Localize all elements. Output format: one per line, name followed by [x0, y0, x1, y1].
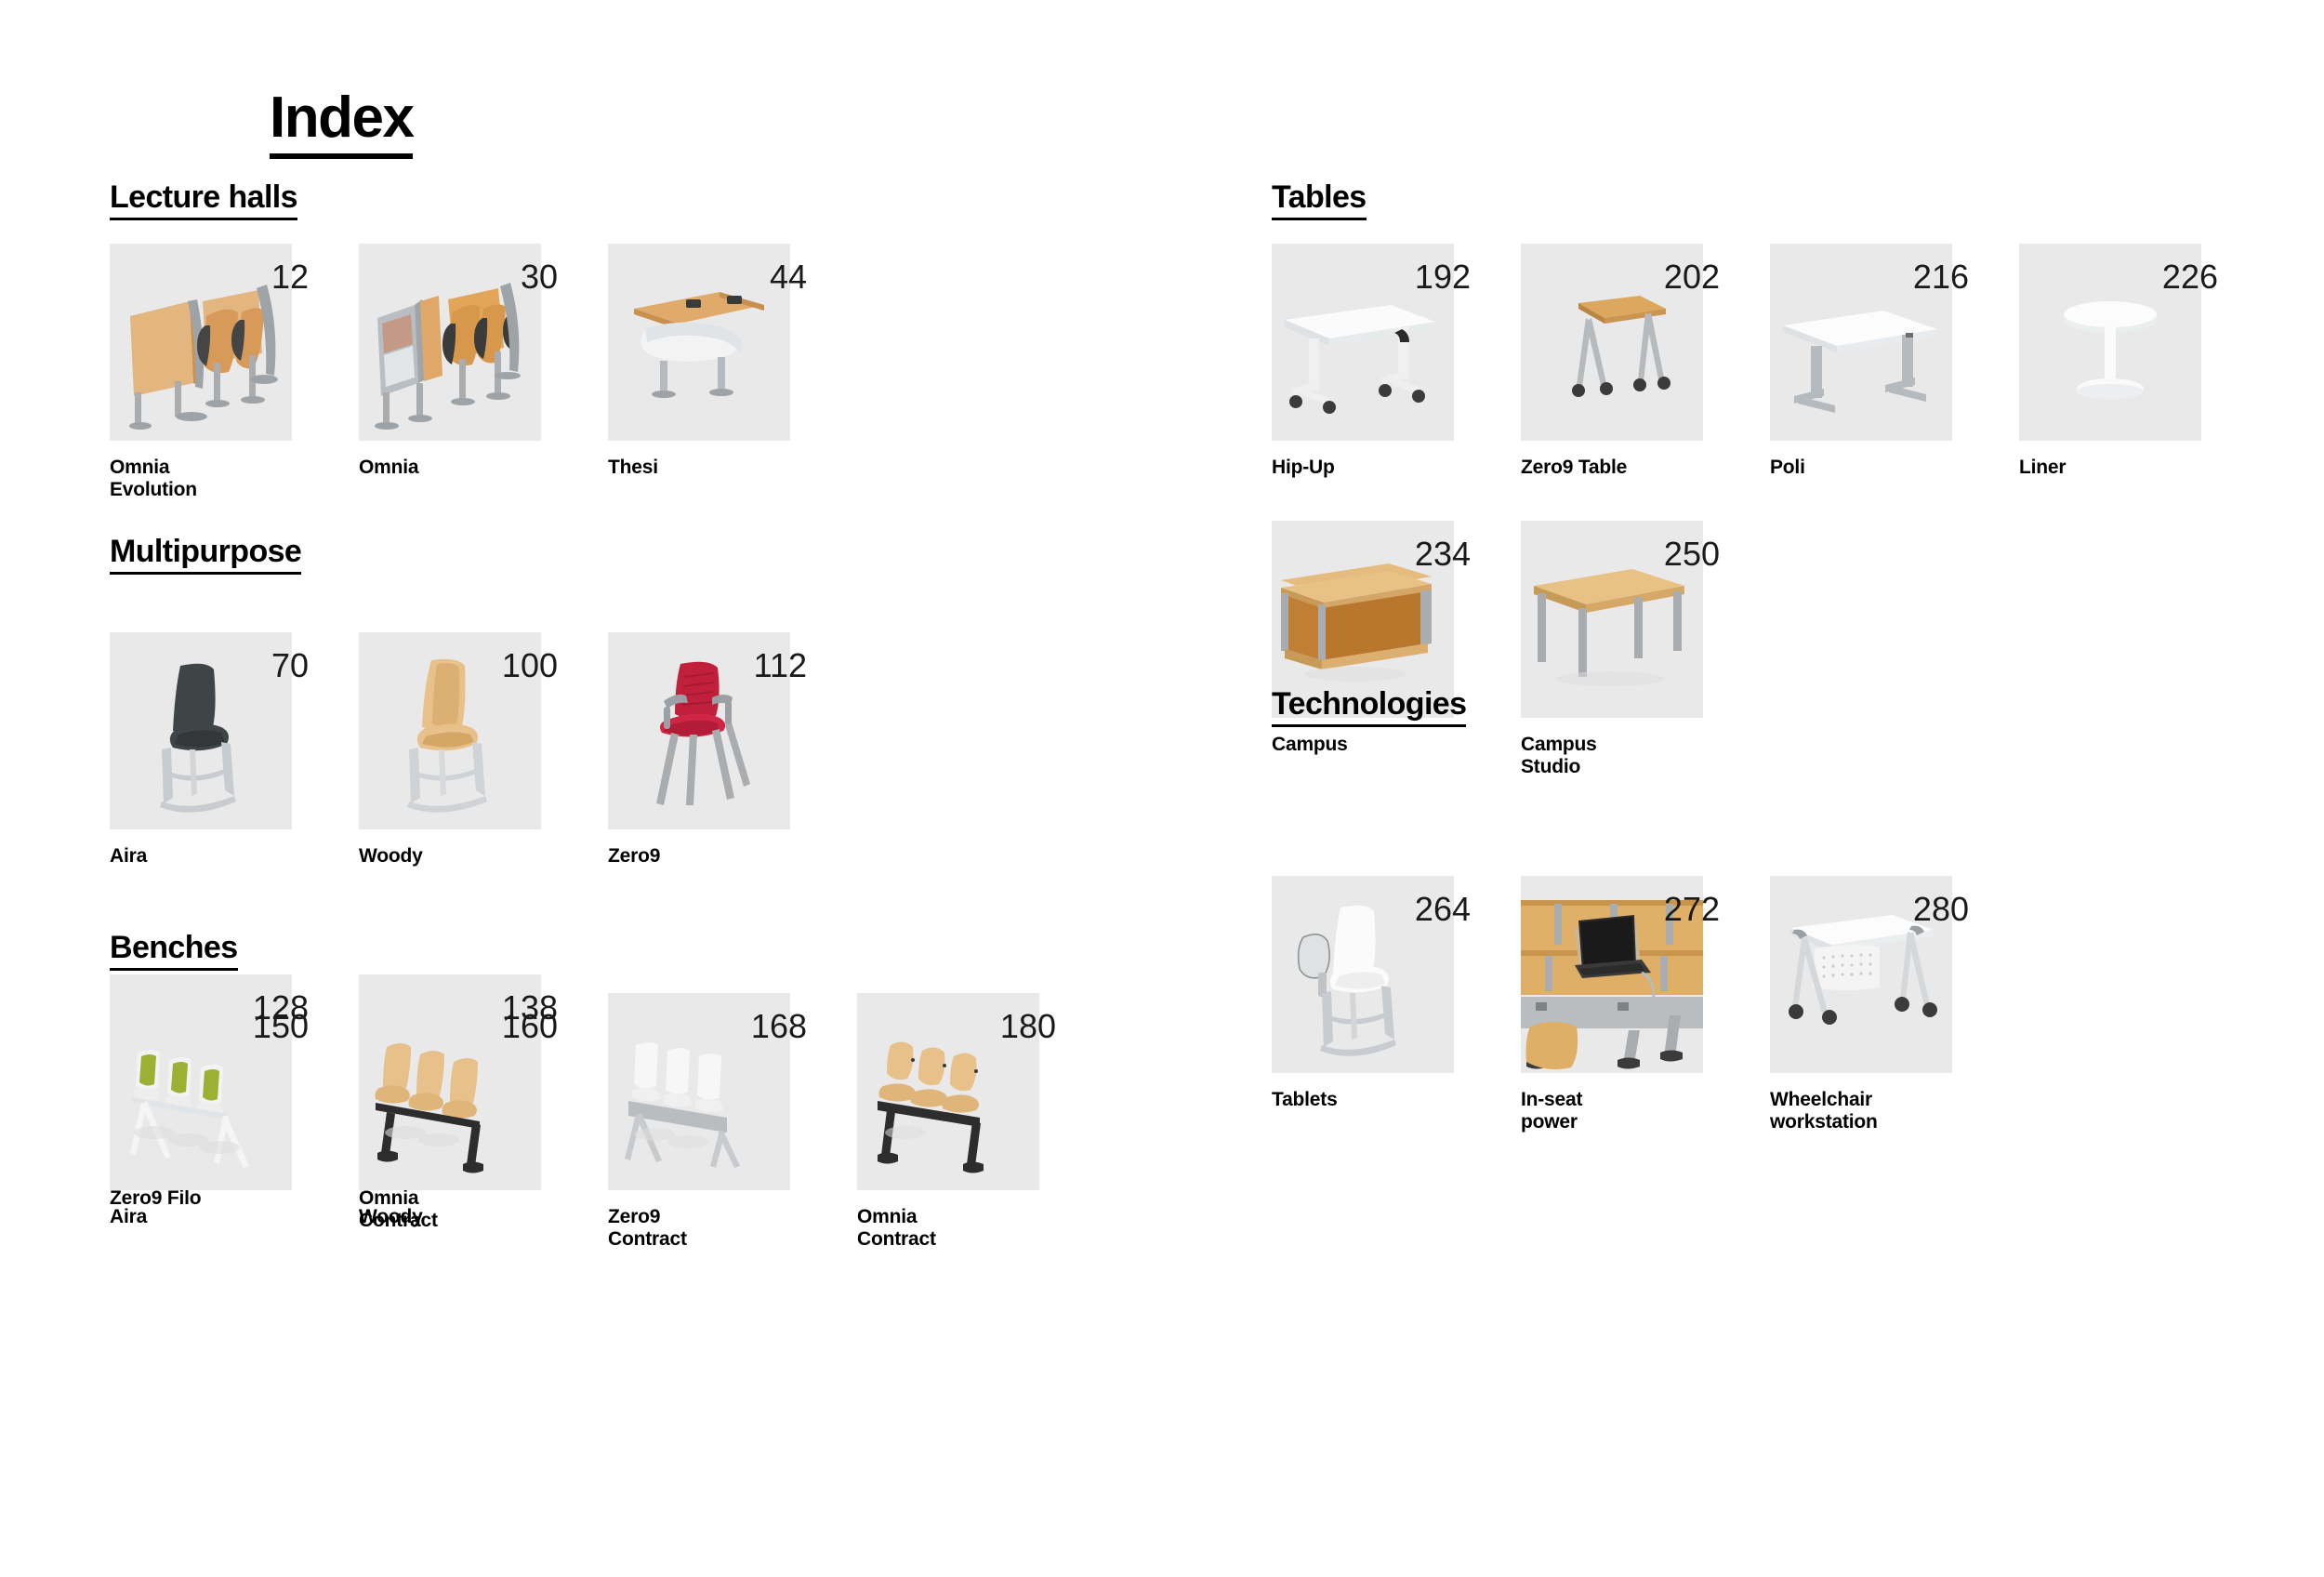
page-number: 216 — [1913, 260, 1969, 294]
product-label: Zero9 Contract — [608, 1206, 790, 1251]
product-tile[interactable]: 272In-seat power — [1521, 876, 1703, 1133]
right-column: Tables 192Hip-Up 202Zero9 Table — [1272, 0, 2324, 1577]
page-number: 234 — [1415, 537, 1471, 571]
product-tile[interactable]: 160Woody — [359, 993, 541, 1251]
product-tile[interactable]: 280Wheelchair workstation — [1770, 876, 1952, 1133]
page-number: 30 — [521, 260, 558, 294]
product-tile[interactable]: 112Zero9 — [608, 632, 790, 868]
product-thumbnail[interactable]: 160 — [359, 993, 541, 1190]
page-number: 12 — [271, 260, 309, 294]
page-number: 168 — [751, 1010, 807, 1043]
page-number: 100 — [502, 649, 558, 682]
left-column: Lecture halls 12Omnia Evolution — [110, 0, 1179, 1577]
section-benches: Benches — [110, 932, 1179, 971]
product-label: Woody — [359, 845, 541, 868]
page-number: 70 — [271, 649, 309, 682]
tile-row: 234Campus 250Campus Studio — [1272, 521, 1703, 778]
product-tile[interactable]: 202Zero9 Table — [1521, 244, 1703, 479]
section-multipurpose: Multipurpose — [110, 536, 1179, 575]
page-number: 150 — [253, 1010, 309, 1043]
product-label: Zero9 — [608, 845, 790, 868]
product-tile[interactable]: 192Hip-Up — [1272, 244, 1454, 479]
section-title-benches: Benches — [110, 932, 238, 971]
product-label: Poli — [1770, 457, 1952, 479]
page-number: 112 — [754, 649, 807, 682]
page-number: 192 — [1415, 260, 1471, 294]
tile-row: 70Aira 100Woody 112Zero9 — [110, 632, 790, 868]
page-number: 264 — [1415, 893, 1471, 926]
tile-row: 12Omnia Evolution 30Omnia — [110, 244, 790, 501]
product-tile[interactable]: 216Poli — [1770, 244, 1952, 479]
page-number: 272 — [1664, 893, 1720, 926]
tile-row: 192Hip-Up 202Zero9 Table 216Poli — [1272, 244, 2201, 479]
product-thumbnail[interactable]: 100 — [359, 632, 541, 829]
tile-row: 150Aira 160Woody 168Zero9 Cont — [110, 993, 1039, 1251]
page-number: 226 — [2162, 260, 2218, 294]
thesi-image — [608, 244, 790, 441]
section-title-technologies: Technologies — [1272, 688, 1466, 727]
product-tile[interactable]: 234Campus — [1272, 521, 1454, 778]
product-tile[interactable]: 180Omnia Contract — [857, 993, 1039, 1251]
product-label: Wheelchair workstation — [1770, 1089, 1952, 1133]
omnia-lecture-image — [359, 244, 541, 441]
page-number: 160 — [502, 1010, 558, 1043]
product-label: Hip-Up — [1272, 457, 1454, 479]
product-thumbnail[interactable]: 30 — [359, 244, 541, 441]
product-label: Aira — [110, 845, 292, 868]
product-tile[interactable]: 150Aira — [110, 993, 292, 1251]
product-thumbnail[interactable]: 202 — [1521, 244, 1703, 441]
product-thumbnail[interactable]: 264 — [1272, 876, 1454, 1073]
product-label: Aira — [110, 1206, 292, 1228]
product-label: Liner — [2019, 457, 2201, 479]
tile-row: 264Tablets 272In-seat power — [1272, 876, 1952, 1133]
product-thumbnail[interactable]: 44 — [608, 244, 790, 441]
product-label: Thesi — [608, 457, 790, 479]
product-label: Tablets — [1272, 1089, 1454, 1111]
omnia-evolution-image — [110, 244, 292, 441]
product-tile[interactable]: 70Aira — [110, 632, 292, 868]
product-tile[interactable]: 226Liner — [2019, 244, 2201, 479]
product-thumbnail[interactable]: 70 — [110, 632, 292, 829]
product-label: Omnia Evolution — [110, 457, 292, 501]
product-thumbnail[interactable]: 150 — [110, 993, 292, 1190]
section-title-multipurpose: Multipurpose — [110, 536, 301, 575]
product-thumbnail[interactable]: 168 — [608, 993, 790, 1190]
product-tile[interactable]: 250Campus Studio — [1521, 521, 1703, 778]
product-label: Woody — [359, 1206, 541, 1228]
product-tile[interactable]: 44Thesi — [608, 244, 790, 501]
section-title-lecture-halls: Lecture halls — [110, 181, 297, 220]
product-tile[interactable]: 100Woody — [359, 632, 541, 868]
section-tables: Tables — [1272, 181, 2324, 220]
page-number: 202 — [1664, 260, 1720, 294]
aira-chair-image — [110, 632, 292, 829]
product-tile[interactable]: 12Omnia Evolution — [110, 244, 292, 501]
product-thumbnail[interactable]: 192 — [1272, 244, 1454, 441]
product-tile[interactable]: 30Omnia — [359, 244, 541, 501]
product-label: In-seat power — [1521, 1089, 1703, 1133]
product-tile[interactable]: 168Zero9 Contract — [608, 993, 790, 1251]
product-thumbnail[interactable]: 112 — [608, 632, 790, 829]
page-number: 280 — [1913, 893, 1969, 926]
product-label: Omnia — [359, 457, 541, 479]
product-thumbnail[interactable]: 12 — [110, 244, 292, 441]
product-thumbnail[interactable]: 180 — [857, 993, 1039, 1190]
section-technologies: Technologies — [1272, 688, 2324, 727]
product-label: Campus Studio — [1521, 734, 1703, 778]
product-label: Omnia Contract — [857, 1206, 1039, 1251]
product-thumbnail[interactable]: 272 — [1521, 876, 1703, 1073]
product-thumbnail[interactable]: 226 — [2019, 244, 2201, 441]
product-thumbnail[interactable]: 280 — [1770, 876, 1952, 1073]
page-number: 180 — [1000, 1010, 1056, 1043]
product-thumbnail[interactable]: 216 — [1770, 244, 1952, 441]
section-title-tables: Tables — [1272, 181, 1367, 220]
page-number: 250 — [1664, 537, 1720, 571]
section-lecture-halls: Lecture halls — [110, 181, 1179, 220]
product-label: Campus — [1272, 734, 1454, 756]
product-label: Zero9 Table — [1521, 457, 1703, 479]
product-tile[interactable]: 264Tablets — [1272, 876, 1454, 1133]
page-number: 44 — [770, 260, 807, 294]
